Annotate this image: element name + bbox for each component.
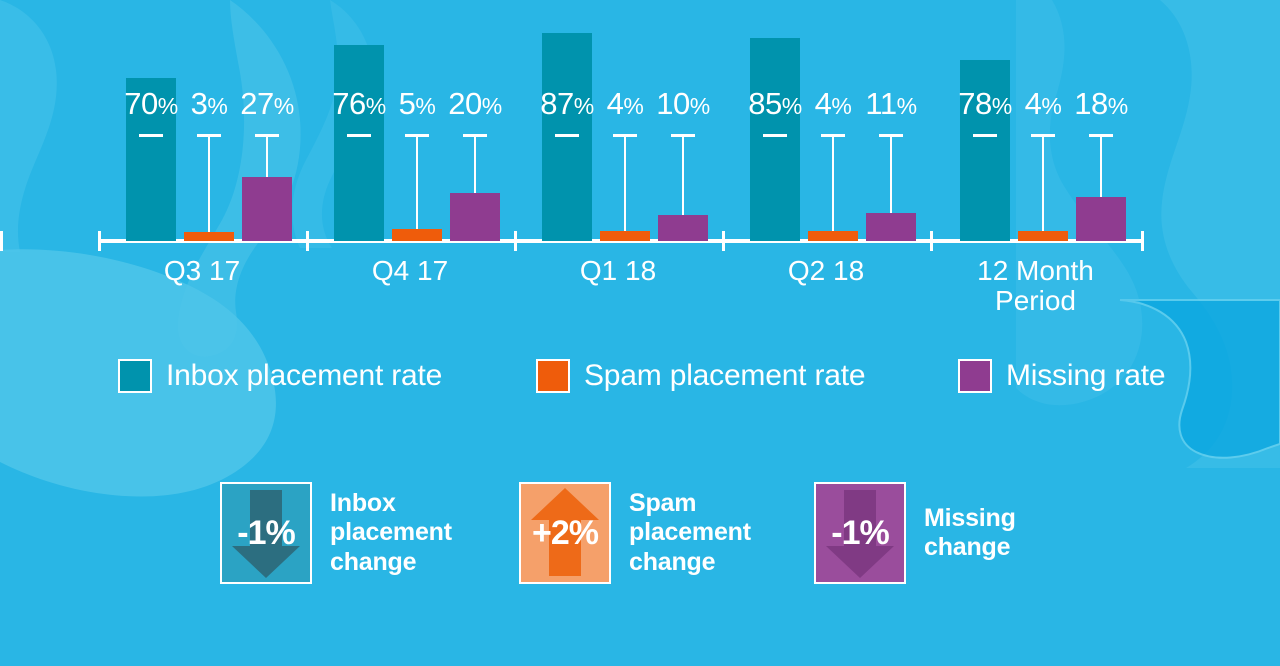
- callout-missing-change: -1% Missing change: [814, 482, 1016, 584]
- missing-change-value: -1%: [831, 514, 888, 553]
- infographic-canvas: 70% 3% 27% Q3 17 76% 5% 20% Q4 17: [0, 0, 1280, 666]
- bar-spam: [1018, 231, 1068, 241]
- bar-group: 78% 4% 18% 12 Month Period: [930, 0, 1141, 330]
- value-label-missing: 18%: [1066, 88, 1136, 119]
- missing-change-label: Missing change: [924, 504, 1016, 563]
- value-label-missing: 11%: [856, 88, 926, 119]
- legend-label: Inbox placement rate: [166, 359, 442, 393]
- label-leader-cap-inbox: [555, 134, 579, 137]
- legend-swatch-inbox-icon: [118, 359, 152, 393]
- category-label: Q3 17: [98, 256, 306, 286]
- bar-inbox: [750, 38, 800, 241]
- bar-missing: [1076, 197, 1126, 241]
- legend-label: Spam placement rate: [584, 359, 865, 393]
- bar-spam: [600, 231, 650, 241]
- bar-group: 70% 3% 27% Q3 17: [98, 0, 306, 330]
- axis-tick: [0, 231, 3, 251]
- spam-change-label: Spam placement change: [629, 489, 751, 578]
- legend-swatch-spam-icon: [536, 359, 570, 393]
- label-leader-line-missing: [682, 134, 684, 215]
- label-leader-line-spam: [416, 134, 418, 229]
- bar-missing: [450, 193, 500, 241]
- label-leader-line-spam: [832, 134, 834, 231]
- label-leader-line-missing: [1100, 134, 1102, 197]
- label-leader-cap-inbox: [347, 134, 371, 137]
- category-label: 12 Month Period: [930, 256, 1141, 316]
- category-label: Q4 17: [306, 256, 514, 286]
- category-label: Q1 18: [514, 256, 722, 286]
- bar-spam: [184, 232, 234, 241]
- bar-group: 76% 5% 20% Q4 17: [306, 0, 514, 330]
- change-indicators: -1% Inbox placement change +2% Spam plac…: [0, 482, 1280, 602]
- bar-group: 87% 4% 10% Q1 18: [514, 0, 722, 330]
- legend-swatch-missing-icon: [958, 359, 992, 393]
- legend-item-inbox[interactable]: Inbox placement rate: [118, 348, 442, 404]
- bar-spam: [392, 229, 442, 241]
- callout-inbox-change: -1% Inbox placement change: [220, 482, 452, 584]
- legend-label: Missing rate: [1006, 359, 1165, 393]
- value-label-missing: 10%: [648, 88, 718, 119]
- category-label: Q2 18: [722, 256, 930, 286]
- value-label-missing: 20%: [440, 88, 510, 119]
- label-leader-line-spam: [1042, 134, 1044, 231]
- spam-change-badge: +2%: [519, 482, 611, 584]
- inbox-change-badge: -1%: [220, 482, 312, 584]
- label-leader-cap-inbox: [973, 134, 997, 137]
- bar-inbox: [334, 45, 384, 241]
- inbox-change-label: Inbox placement change: [330, 489, 452, 578]
- label-leader-line-missing: [474, 134, 476, 193]
- missing-change-badge: -1%: [814, 482, 906, 584]
- bar-chart: 70% 3% 27% Q3 17 76% 5% 20% Q4 17: [0, 0, 1280, 330]
- label-leader-line-spam: [624, 134, 626, 231]
- callout-spam-change: +2% Spam placement change: [519, 482, 751, 584]
- label-leader-line-missing: [266, 134, 268, 177]
- bar-group: 85% 4% 11% Q2 18: [722, 0, 930, 330]
- label-leader-cap-inbox: [139, 134, 163, 137]
- bar-missing: [658, 215, 708, 241]
- bar-missing: [242, 177, 292, 241]
- label-leader-line-spam: [208, 134, 210, 232]
- spam-change-value: +2%: [532, 514, 598, 553]
- bar-missing: [866, 213, 916, 241]
- bar-inbox: [542, 33, 592, 241]
- legend-item-missing[interactable]: Missing rate: [958, 348, 1165, 404]
- bar-spam: [808, 231, 858, 241]
- value-label-missing: 27%: [232, 88, 302, 119]
- label-leader-cap-inbox: [763, 134, 787, 137]
- chart-legend: Inbox placement rate Spam placement rate…: [0, 348, 1280, 408]
- inbox-change-value: -1%: [237, 514, 294, 553]
- legend-item-spam[interactable]: Spam placement rate: [536, 348, 865, 404]
- label-leader-line-missing: [890, 134, 892, 213]
- axis-tick: [1141, 231, 1144, 251]
